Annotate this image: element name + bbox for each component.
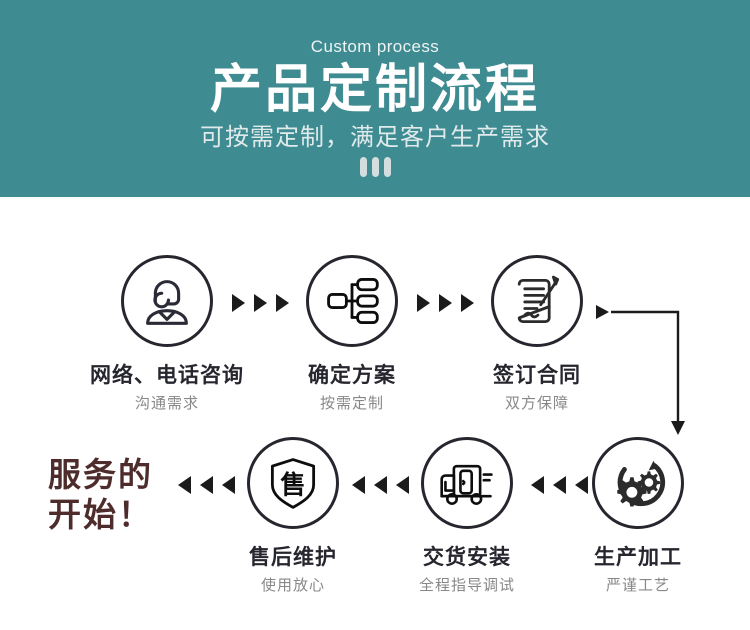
banner-dot [372,157,379,177]
triangle-left-icon [222,476,235,494]
flow-step-label: 交货安装 [382,545,552,571]
flow-step-sublabel: 使用放心 [208,576,378,596]
triangle-right-icon [417,294,430,312]
flow-step-5[interactable]: 交货安装 全程指导调试 [382,437,552,596]
flow-step-label: 生产加工 [553,545,723,571]
triangle-left-icon [575,476,588,494]
flow-step-label: 确定方案 [267,363,437,389]
triangle-left-icon [396,476,409,494]
triangle-right-icon [232,294,245,312]
flow-step-6[interactable]: 售 售后维护 使用放心 [208,437,378,596]
triangle-left-icon [178,476,191,494]
banner-subtitle: 可按需定制，满足客户生产需求 [0,122,750,154]
flow-step-sublabel: 严谨工艺 [553,576,723,596]
shield-after-sales-icon: 售 [247,437,339,529]
process-flow-diagram: 网络、电话咨询 沟通需求 确定方案 按需定制 [0,197,750,630]
flow-step-1[interactable]: 网络、电话咨询 沟通需求 [82,255,252,414]
svg-text:售: 售 [280,470,305,499]
page-title: 产品定制流程 [0,60,750,120]
delivery-truck-icon [421,437,513,529]
banner-dot [384,157,391,177]
gears-icon [592,437,684,529]
flow-step-sublabel: 沟通需求 [82,394,252,414]
flow-step-label: 网络、电话咨询 [82,363,252,389]
flow-step-sublabel: 全程指导调试 [382,576,552,596]
banner-dots-decoration [0,156,750,178]
service-start-callout-line1: 服务的 [48,455,153,495]
triangle-left-icon [553,476,566,494]
headset-person-icon [121,255,213,347]
triangle-right-icon [439,294,452,312]
contract-signing-icon [491,255,583,347]
flow-step-sublabel: 按需定制 [267,394,437,414]
triangle-left-icon [200,476,213,494]
arrows-step6-to-callout [178,476,235,494]
triangle-right-icon [254,294,267,312]
page-banner: Custom process 产品定制流程 可按需定制，满足客户生产需求 [0,0,750,197]
flowchart-icon [306,255,398,347]
flow-step-4[interactable]: 生产加工 严谨工艺 [553,437,723,596]
service-start-callout: 服务的 开始！ [48,455,153,535]
flow-step-label: 售后维护 [208,545,378,571]
flow-step-2[interactable]: 确定方案 按需定制 [267,255,437,414]
service-start-callout-line2: 开始！ [48,495,153,535]
banner-eyebrow: Custom process [0,36,750,58]
elbow-step3-to-step4 [596,285,696,440]
banner-dot [360,157,367,177]
